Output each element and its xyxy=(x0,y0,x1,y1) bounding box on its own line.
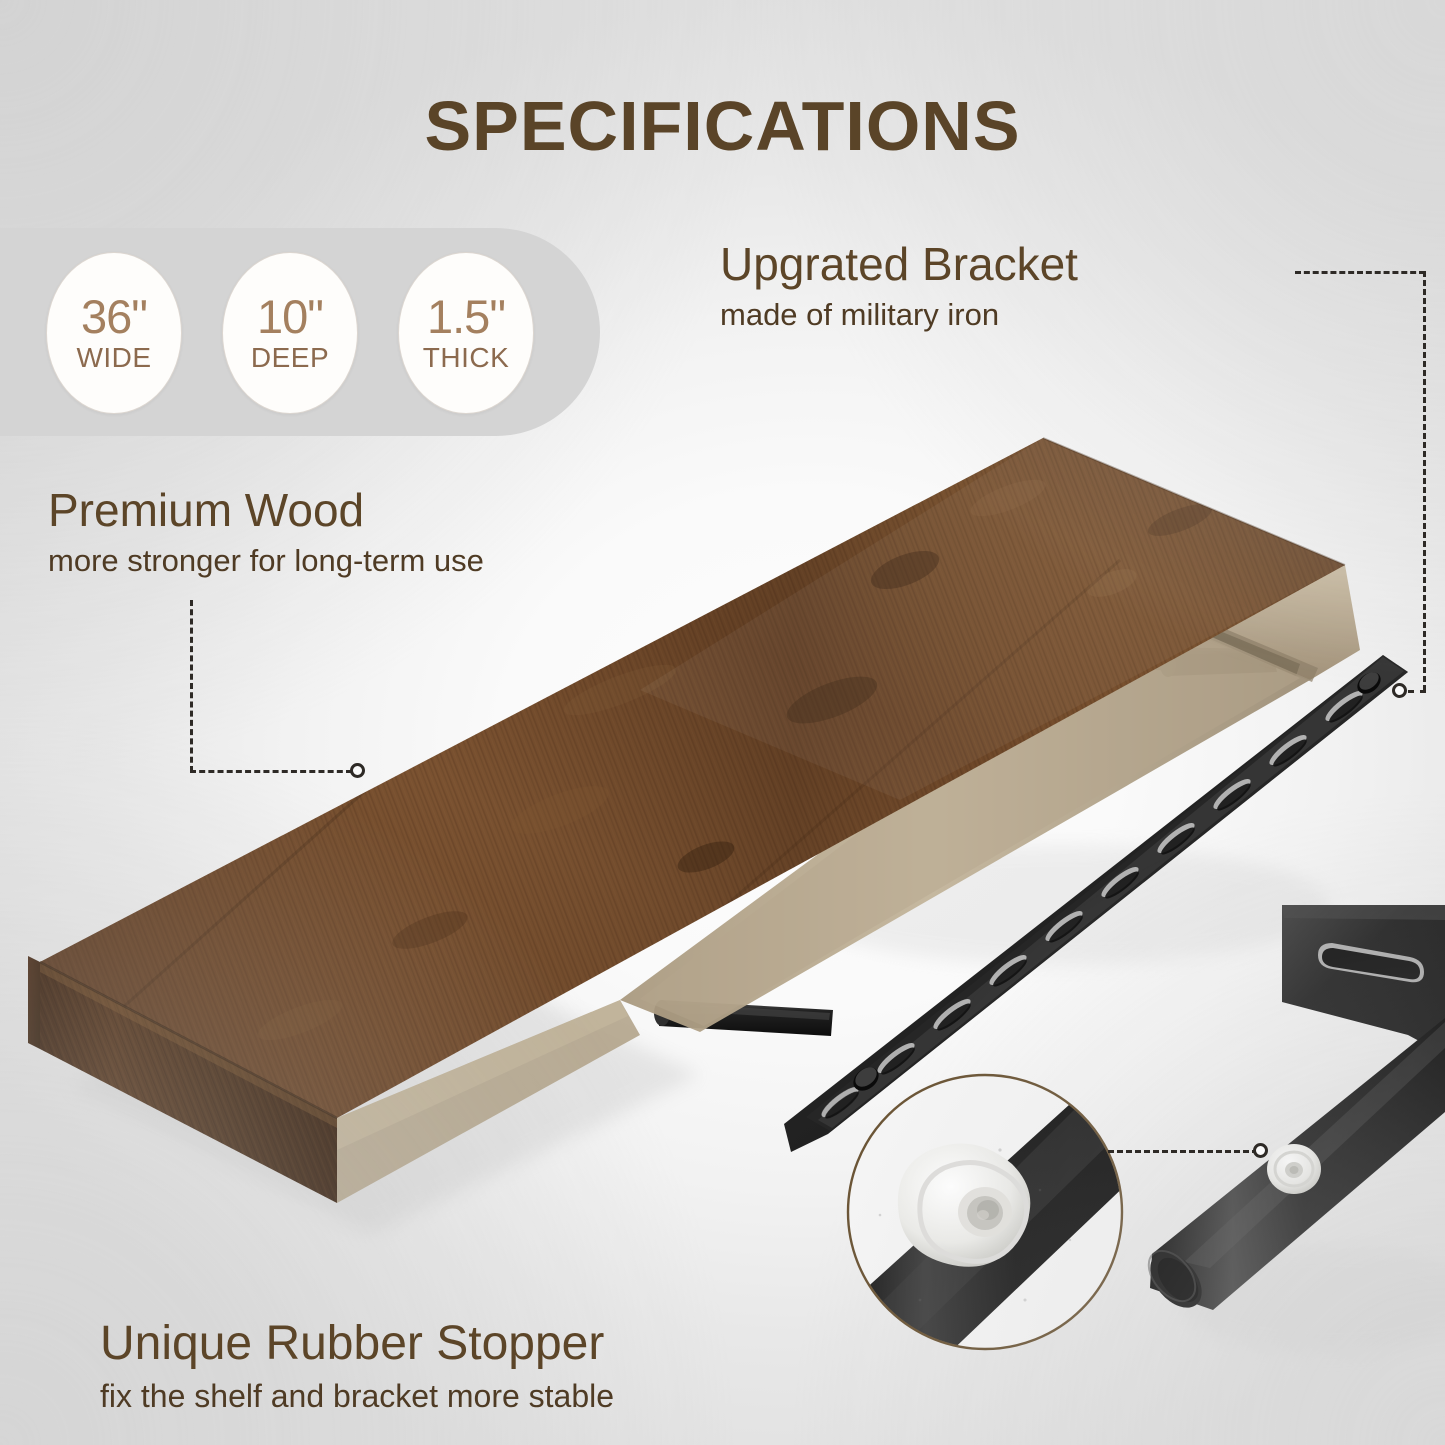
infographic-canvas: SPECIFICATIONS 36" WIDE 10" DEEP 1.5" TH… xyxy=(0,0,1445,1445)
callout-heading: Unique Rubber Stopper xyxy=(100,1318,614,1370)
leader-line-wood-horizontal xyxy=(190,770,352,773)
dimension-value: 36" xyxy=(81,293,147,340)
dimension-label: WIDE xyxy=(76,343,151,374)
rubber-stopper-on-bracket xyxy=(1267,1144,1321,1194)
callout-subtitle: more stronger for long-term use xyxy=(48,542,484,581)
leader-line-wood-vertical xyxy=(190,600,193,772)
wall-bracket-lower xyxy=(1140,905,1445,1355)
leader-dot-bracket xyxy=(1392,683,1407,698)
callout-subtitle: made of military iron xyxy=(720,296,1078,335)
leader-line-bracket-stub xyxy=(1408,690,1426,693)
leader-line-bracket-horizontal xyxy=(1295,271,1425,274)
dimension-badge-wide: 36" WIDE xyxy=(46,252,182,414)
leader-dot-wood xyxy=(350,763,365,778)
dimension-label: THICK xyxy=(423,343,510,374)
callout-heading: Premium Wood xyxy=(48,486,484,536)
callout-heading: Upgrated Bracket xyxy=(720,240,1078,290)
callout-subtitle: fix the shelf and bracket more stable xyxy=(100,1376,614,1416)
dimension-label: DEEP xyxy=(251,343,329,374)
page-title: SPECIFICATIONS xyxy=(0,86,1445,166)
rubber-stopper-magnifier-inset xyxy=(820,1048,1196,1400)
dimension-badge-deep: 10" DEEP xyxy=(222,252,358,414)
shelf-left-end xyxy=(28,956,40,1049)
product-photo-illustration xyxy=(0,0,1445,1445)
dimension-value: 10" xyxy=(257,293,323,340)
leader-line-bracket-vertical xyxy=(1423,271,1426,691)
dimension-badge-thick: 1.5" THICK xyxy=(398,252,534,414)
callout-upgraded-bracket: Upgrated Bracket made of military iron xyxy=(720,240,1078,334)
callout-rubber-stopper: Unique Rubber Stopper fix the shelf and … xyxy=(100,1318,614,1416)
dimension-value: 1.5" xyxy=(427,293,505,340)
leader-dot-stopper xyxy=(1253,1143,1268,1158)
callout-premium-wood: Premium Wood more stronger for long-term… xyxy=(48,486,484,580)
leader-line-stopper xyxy=(1108,1150,1258,1153)
